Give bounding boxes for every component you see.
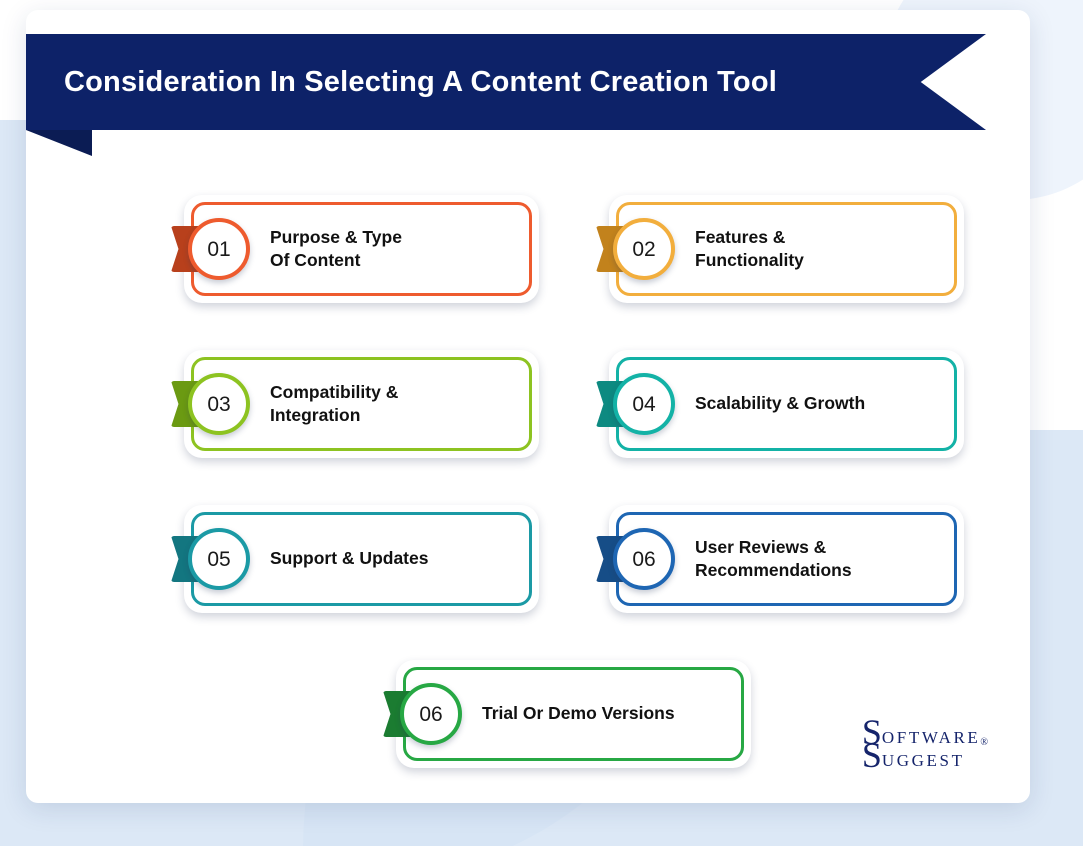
- card-text-wrap: Features & Functionality: [695, 195, 946, 303]
- card-number-label: 01: [207, 239, 230, 260]
- card-text-wrap: Support & Updates: [270, 505, 521, 613]
- card-label: Purpose & Type Of Content: [270, 226, 402, 273]
- card-text-wrap: User Reviews & Recommendations: [695, 505, 946, 613]
- card-text-wrap: Compatibility & Integration: [270, 350, 521, 458]
- header-banner: Consideration In Selecting A Content Cre…: [26, 34, 986, 130]
- card-number-label: 06: [419, 704, 442, 725]
- card-number-badge: 02: [613, 218, 675, 280]
- logo-word-suggest: UGGEST: [882, 753, 965, 769]
- card-label: Support & Updates: [270, 547, 428, 570]
- card-item[interactable]: 06 User Reviews & Recommendations: [609, 505, 964, 613]
- card-number-label: 03: [207, 394, 230, 415]
- card-number-label: 04: [632, 394, 655, 415]
- logo-cap-s-bottom: S: [862, 741, 882, 771]
- card-text-wrap: Trial Or Demo Versions: [482, 660, 733, 768]
- card-item[interactable]: 01 Purpose & Type Of Content: [184, 195, 539, 303]
- card-number-badge: 05: [188, 528, 250, 590]
- card-text-wrap: Scalability & Growth: [695, 350, 946, 458]
- card-number-badge: 01: [188, 218, 250, 280]
- card-number-badge: 03: [188, 373, 250, 435]
- card-number-label: 05: [207, 549, 230, 570]
- banner-ribbon: Consideration In Selecting A Content Cre…: [26, 34, 986, 130]
- card-label: Scalability & Growth: [695, 392, 865, 415]
- card-number-badge: 06: [400, 683, 462, 745]
- infographic-sheet: Consideration In Selecting A Content Cre…: [26, 10, 1030, 803]
- card-item[interactable]: 05 Support & Updates: [184, 505, 539, 613]
- card-label: Compatibility & Integration: [270, 381, 398, 428]
- registered-trademark-icon: ®: [980, 738, 988, 747]
- softwaresuggest-logo: S OFTWARE ® S UGGEST: [862, 718, 988, 771]
- card-number-badge: 04: [613, 373, 675, 435]
- card-label: User Reviews & Recommendations: [695, 536, 852, 583]
- card-item[interactable]: 02 Features & Functionality: [609, 195, 964, 303]
- card-label: Trial Or Demo Versions: [482, 702, 675, 725]
- card-label: Features & Functionality: [695, 226, 804, 273]
- card-item[interactable]: 06 Trial Or Demo Versions: [396, 660, 751, 768]
- card-text-wrap: Purpose & Type Of Content: [270, 195, 521, 303]
- banner-tail-shape: [26, 130, 92, 156]
- page-title: Consideration In Selecting A Content Cre…: [64, 66, 777, 99]
- card-number-label: 06: [632, 549, 655, 570]
- card-number-badge: 06: [613, 528, 675, 590]
- card-item[interactable]: 04 Scalability & Growth: [609, 350, 964, 458]
- card-item[interactable]: 03 Compatibility & Integration: [184, 350, 539, 458]
- logo-word-software: OFTWARE: [882, 730, 980, 746]
- cards-grid: 01 Purpose & Type Of Content 02 Features…: [26, 186, 1030, 786]
- card-number-label: 02: [632, 239, 655, 260]
